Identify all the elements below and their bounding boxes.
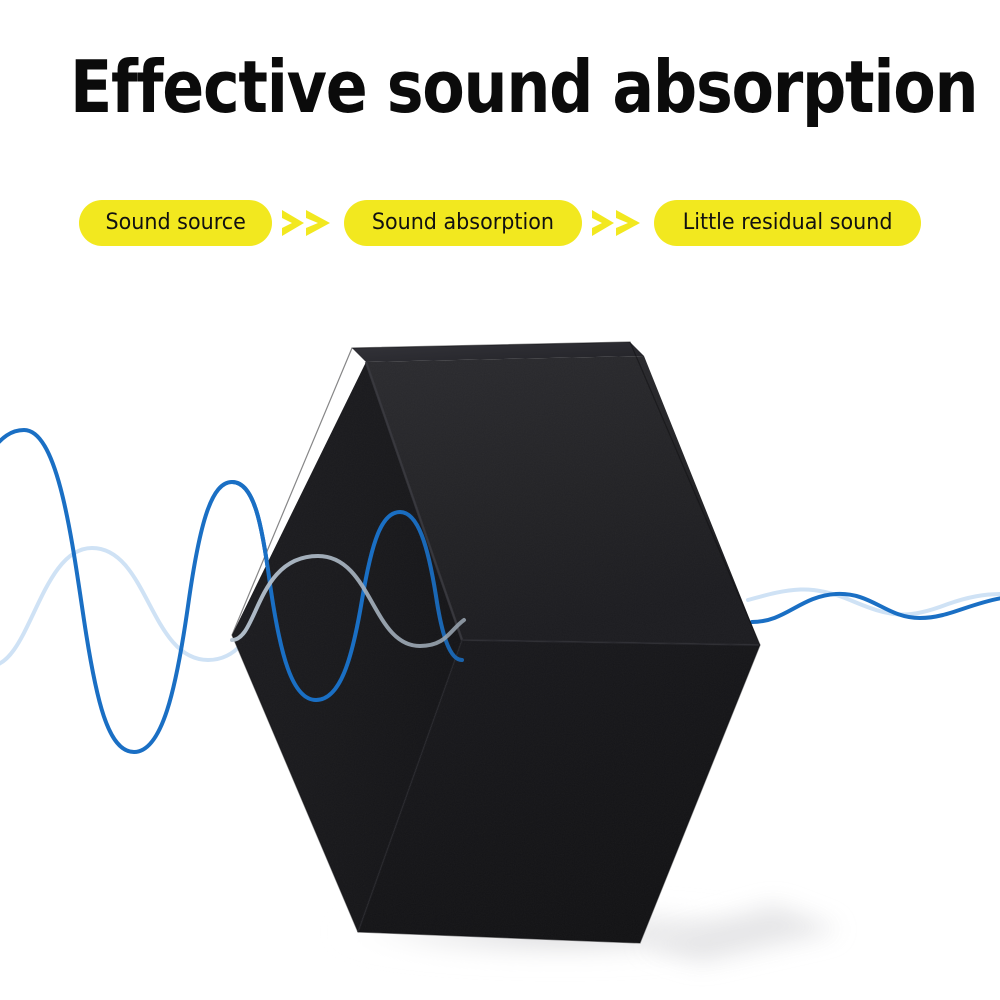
absorbed-sound-wave-group bbox=[0, 0, 1000, 1000]
product-scene bbox=[0, 0, 1000, 1000]
product-feature-banner: Effective sound absorption Sound source … bbox=[0, 0, 1000, 1000]
